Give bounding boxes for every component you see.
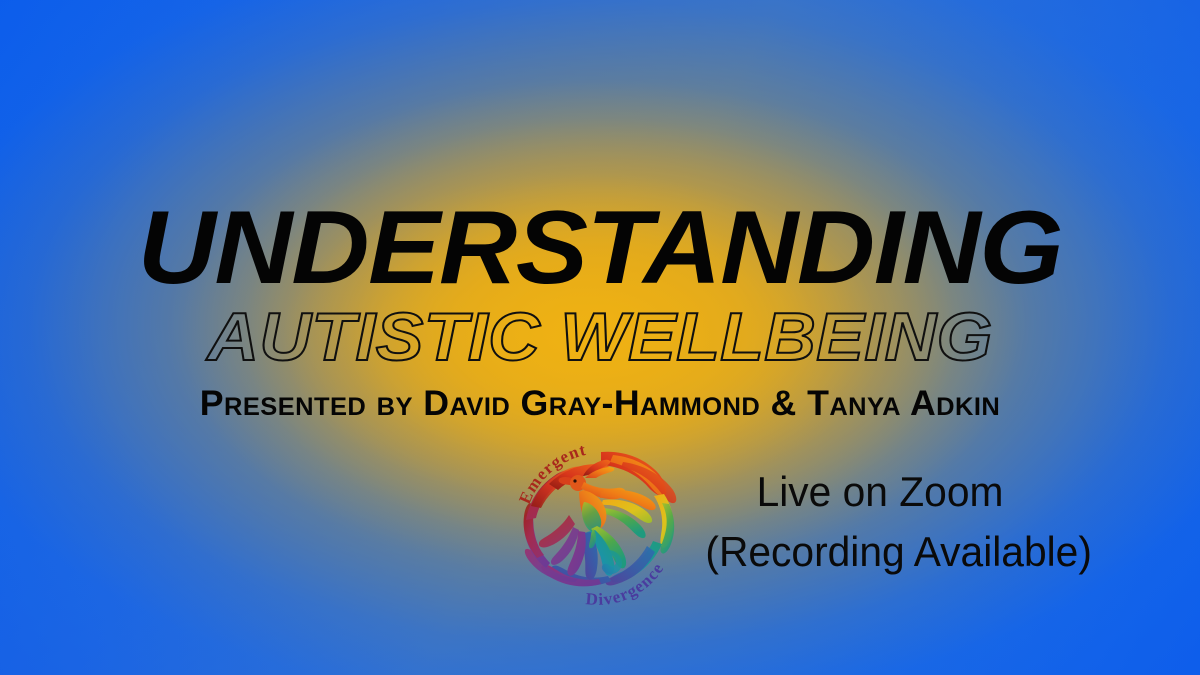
page-title: UNDERSTANDING (0, 196, 1200, 300)
slide-content: UNDERSTANDING AUTISTIC WELLBEING Present… (0, 0, 1200, 675)
slide-canvas: UNDERSTANDING AUTISTIC WELLBEING Present… (0, 0, 1200, 675)
event-format-recording: (Recording Available) (705, 522, 1054, 582)
emergent-divergence-logo: Emergent Divergence (505, 432, 695, 608)
presenter-credit: Presented by David Gray-Hammond & Tanya … (0, 386, 1200, 421)
event-format-info: Live on Zoom (Recording Available) (705, 462, 1054, 581)
page-subtitle: AUTISTIC WELLBEING (0, 303, 1200, 371)
event-format-live: Live on Zoom (705, 462, 1054, 522)
